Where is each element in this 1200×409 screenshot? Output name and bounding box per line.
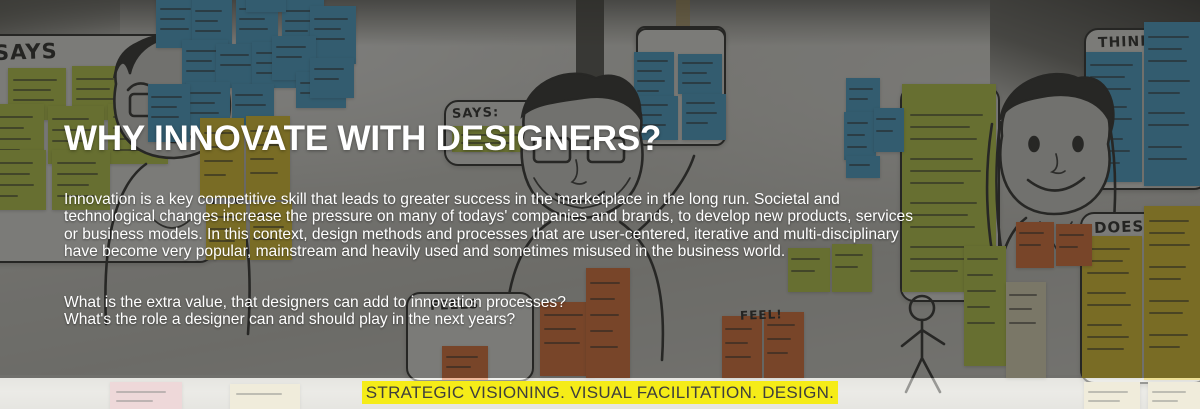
question-paragraph: What is the extra value, that designers …	[64, 294, 764, 329]
page-title: WHY INNOVATE WITH DESIGNERS?	[64, 118, 661, 160]
tagline-text: STRATEGIC VISIONING. VISUAL FACILITATION…	[362, 381, 838, 404]
tagline-bar: STRATEGIC VISIONING. VISUAL FACILITATION…	[0, 381, 1200, 404]
hero-banner: SAYS	[0, 0, 1200, 409]
intro-paragraph: Innovation is a key competitive skill th…	[64, 191, 924, 261]
question-line-2: What's the role a designer can and shoul…	[64, 311, 515, 328]
question-line-1: What is the extra value, that designers …	[64, 294, 566, 311]
